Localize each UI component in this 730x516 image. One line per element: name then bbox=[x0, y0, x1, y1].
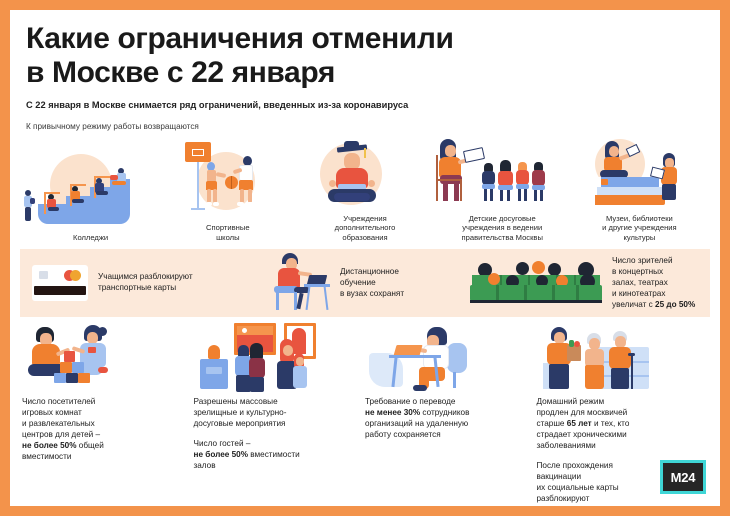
basketball-players-icon bbox=[159, 142, 296, 220]
subtitle: С 22 января в Москве снимается ряд огран… bbox=[26, 100, 704, 110]
list-item-text-secondary: Число гостей – не более 50% вместимости … bbox=[194, 439, 358, 472]
list-item-text: Требование о переводе не менее 30% сотру… bbox=[365, 397, 529, 441]
list-item: Число посетителей игровых комнат и развл… bbox=[22, 323, 194, 489]
graduate-student-laptop-icon bbox=[296, 135, 433, 210]
page-title: Какие ограничения отменили в Москве с 22… bbox=[26, 22, 704, 89]
remote-work-laptop-icon bbox=[365, 323, 529, 393]
band-item-text: Число зрителей в концертных залах, театр… bbox=[612, 256, 695, 311]
list-item-text: Домашний режим продлен для москвичей ста… bbox=[537, 397, 701, 452]
list-item-label: Детские досуговые учреждения в ведении п… bbox=[462, 214, 543, 244]
lead-text: К привычному режиму работы возвращаются bbox=[26, 122, 704, 131]
children-playing-blocks-icon bbox=[22, 323, 186, 393]
list-item: Требование о переводе не менее 30% сотру… bbox=[365, 323, 537, 489]
list-item-label: Музеи, библиотеки и другие учреждения ку… bbox=[602, 214, 676, 244]
poster-inner: Какие ограничения отменили в Москве с 22… bbox=[10, 10, 720, 506]
restrictions-detail-row: Число посетителей игровых комнат и развл… bbox=[10, 317, 720, 489]
list-item-label: Учреждения дополнительного образования bbox=[335, 214, 396, 244]
college-bleachers-icon bbox=[22, 152, 159, 230]
remote-study-desk-icon bbox=[270, 253, 332, 313]
list-item: Спортивные школы bbox=[159, 135, 296, 243]
teacher-children-class-icon bbox=[434, 135, 571, 210]
list-item-text: Разрешены массовые зрелищные и культурно… bbox=[194, 397, 358, 430]
reopened-institutions-row: Колледжи bbox=[10, 135, 720, 243]
band-item-text: Учащимся разблокируют транспортные карты bbox=[98, 272, 193, 294]
band-item-venue-capacity: Число зрителей в концертных залах, театр… bbox=[470, 249, 710, 317]
transport-card-icon bbox=[32, 265, 88, 301]
list-item-label: Колледжи bbox=[73, 233, 108, 243]
middle-highlight-band: Учащимся разблокируют транспортные карты bbox=[20, 249, 710, 317]
list-item: Учреждения дополнительного образования bbox=[296, 135, 433, 243]
band-item-text: Дистанционное обучение в вузах сохранят bbox=[340, 267, 404, 300]
art-gallery-visitors-icon bbox=[194, 323, 358, 393]
band-item-remote-study: Дистанционное обучение в вузах сохранят bbox=[270, 249, 470, 317]
books-readers-icon bbox=[571, 135, 708, 210]
theater-seats-audience-icon bbox=[470, 261, 602, 305]
list-item-label: Спортивные школы bbox=[206, 223, 250, 243]
list-item: Музеи, библиотеки и другие учреждения ку… bbox=[571, 135, 708, 243]
list-item: Детские досуговые учреждения в ведении п… bbox=[434, 135, 571, 243]
list-item: Разрешены массовые зрелищные и культурно… bbox=[194, 323, 366, 489]
list-item: Колледжи bbox=[22, 135, 159, 243]
band-item-transport-card: Учащимся разблокируют транспортные карты bbox=[20, 249, 270, 317]
elderly-home-mode-icon bbox=[537, 323, 701, 393]
list-item-text: Число посетителей игровых комнат и развл… bbox=[22, 397, 186, 463]
poster-header: Какие ограничения отменили в Москве с 22… bbox=[10, 10, 720, 131]
m24-logo: M24 bbox=[660, 460, 706, 494]
infographic-poster: Какие ограничения отменили в Москве с 22… bbox=[0, 0, 730, 516]
